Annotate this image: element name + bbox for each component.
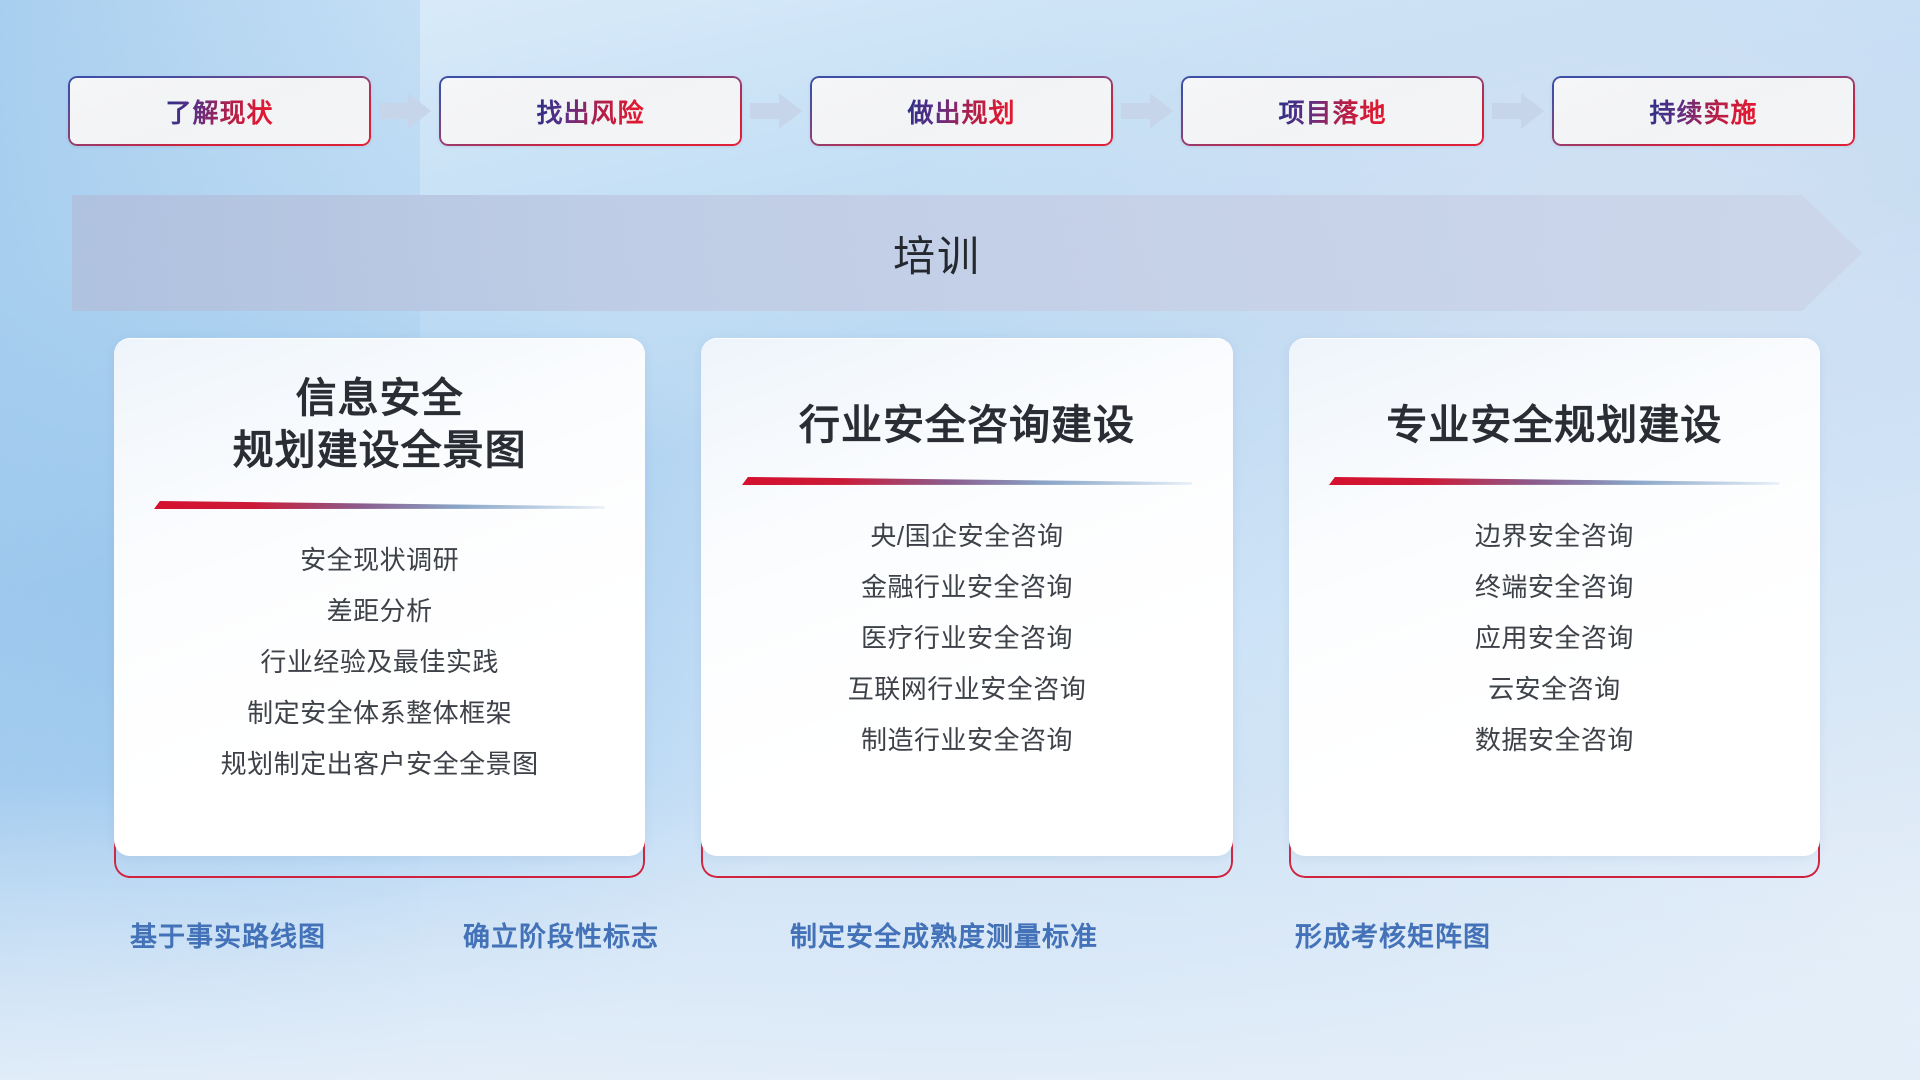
card-body: 信息安全 规划建设全景图 xyxy=(114,338,645,856)
card-title-line: 行业安全咨询建设 xyxy=(799,400,1135,452)
card-item-list: 央/国企安全咨询 金融行业安全咨询 医疗行业安全咨询 互联网行业安全咨询 制造行… xyxy=(727,511,1206,766)
card-industry-security-consulting[interactable]: 行业安全咨询建设 xyxy=(701,338,1232,878)
caption-item: 制定安全成熟度测量标准 xyxy=(790,915,1098,954)
list-item: 行业经验及最佳实践 xyxy=(260,637,499,688)
list-item: 制造行业安全咨询 xyxy=(861,715,1073,766)
caption-item: 确立阶段性标志 xyxy=(463,915,659,954)
gradient-divider-icon xyxy=(742,474,1193,487)
process-step-1[interactable]: 找出风险 xyxy=(439,76,742,146)
card-professional-security-planning[interactable]: 专业安全规划建设 xyxy=(1289,338,1820,878)
card-information-security-blueprint[interactable]: 信息安全 规划建设全景图 xyxy=(114,338,645,878)
arrow-right-icon xyxy=(371,89,439,133)
process-step-label: 了解现状 xyxy=(165,93,273,130)
list-item: 互联网行业安全咨询 xyxy=(848,664,1087,715)
arrow-right-icon xyxy=(1113,89,1181,133)
process-step-0[interactable]: 了解现状 xyxy=(68,76,371,146)
process-step-row: 了解现状 找出风险 做出规划 项目落地 持续实施 xyxy=(68,76,1858,146)
arrow-right-icon xyxy=(1484,89,1552,133)
list-item: 医疗行业安全咨询 xyxy=(861,613,1073,664)
list-item: 终端安全咨询 xyxy=(1475,562,1634,613)
list-item: 规划制定出客户安全全景图 xyxy=(221,739,539,790)
list-item: 央/国企安全咨询 xyxy=(870,511,1063,562)
caption-item: 形成考核矩阵图 xyxy=(1295,915,1491,954)
card-title: 行业安全咨询建设 xyxy=(799,400,1135,452)
list-item: 边界安全咨询 xyxy=(1475,511,1634,562)
arrow-right-icon xyxy=(742,89,810,133)
list-item: 安全现状调研 xyxy=(300,535,459,586)
list-item: 云安全咨询 xyxy=(1488,664,1621,715)
caption-row: 基于事实路线图 确立阶段性标志 制定安全成熟度测量标准 形成考核矩阵图 xyxy=(0,915,1920,961)
card-title-line: 信息安全 xyxy=(233,373,527,425)
card-item-list: 安全现状调研 差距分析 行业经验及最佳实践 制定安全体系整体框架 规划制定出客户… xyxy=(140,535,619,790)
card-body: 专业安全规划建设 xyxy=(1289,338,1820,856)
training-banner: 培训 xyxy=(72,195,1862,311)
process-step-label: 做出规划 xyxy=(907,93,1015,130)
caption-item: 基于事实路线图 xyxy=(130,915,326,954)
banner-title: 培训 xyxy=(72,195,1862,311)
process-step-2[interactable]: 做出规划 xyxy=(810,76,1113,146)
list-item: 差距分析 xyxy=(327,586,433,637)
card-title: 专业安全规划建设 xyxy=(1386,400,1722,452)
process-step-3[interactable]: 项目落地 xyxy=(1181,76,1484,146)
process-step-label: 找出风险 xyxy=(536,93,644,130)
card-row: 信息安全 规划建设全景图 xyxy=(114,338,1820,878)
gradient-divider-icon xyxy=(154,498,605,511)
card-title-line: 专业安全规划建设 xyxy=(1386,400,1722,452)
list-item: 数据安全咨询 xyxy=(1475,715,1634,766)
process-step-label: 项目落地 xyxy=(1278,93,1386,130)
process-step-label: 持续实施 xyxy=(1649,93,1757,130)
card-body: 行业安全咨询建设 xyxy=(701,338,1232,856)
list-item: 应用安全咨询 xyxy=(1475,613,1634,664)
card-title: 信息安全 规划建设全景图 xyxy=(233,373,527,476)
gradient-divider-icon xyxy=(1329,474,1780,487)
card-item-list: 边界安全咨询 终端安全咨询 应用安全咨询 云安全咨询 数据安全咨询 xyxy=(1315,511,1794,766)
list-item: 金融行业安全咨询 xyxy=(861,562,1073,613)
card-title-line: 规划建设全景图 xyxy=(233,425,527,477)
list-item: 制定安全体系整体框架 xyxy=(247,688,512,739)
process-step-4[interactable]: 持续实施 xyxy=(1552,76,1855,146)
